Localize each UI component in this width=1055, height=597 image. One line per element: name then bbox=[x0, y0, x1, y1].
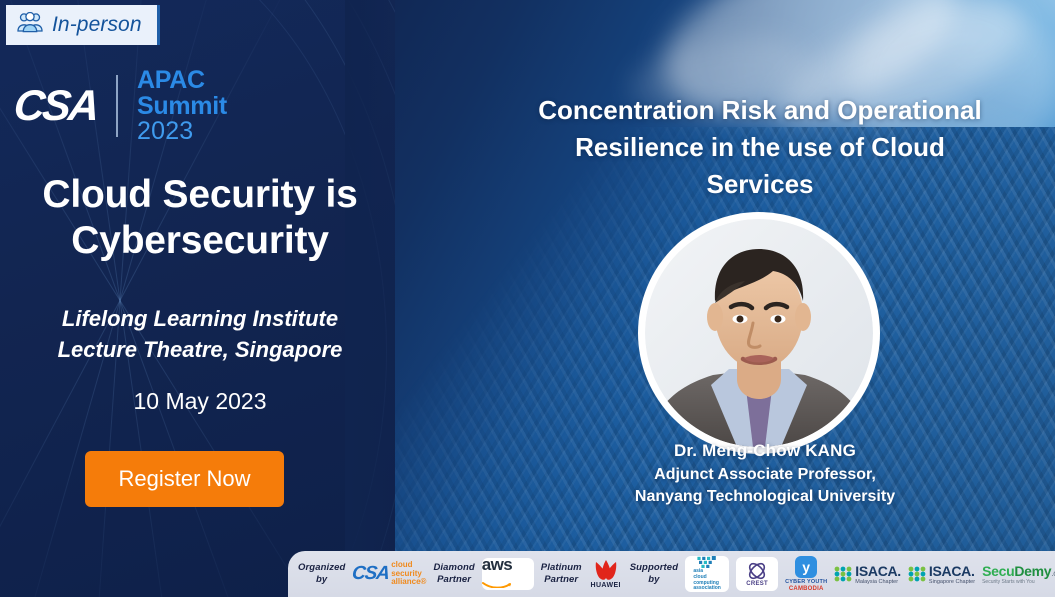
logo-text: APAC Summit 2023 bbox=[137, 68, 227, 145]
huawei-logo: HUAWEI bbox=[589, 559, 623, 589]
register-now-button[interactable]: Register Now bbox=[85, 451, 284, 507]
people-group-icon bbox=[17, 12, 43, 38]
isaca-malaysia-word: ISACA. bbox=[855, 564, 901, 578]
isaca-dots-icon bbox=[908, 566, 926, 582]
isaca-malaysia-sub: Malaysia Chapter bbox=[855, 579, 901, 585]
csa-sponsor-logo: CSA cloud security alliance® bbox=[352, 561, 426, 586]
isaca-singapore-logo: ISACA. Singapore Chapter bbox=[908, 564, 975, 585]
logo-divider bbox=[116, 75, 118, 137]
logo-year: 2023 bbox=[137, 119, 227, 145]
logo-summit: Summit bbox=[137, 94, 227, 120]
csa-logo-mark: CSA bbox=[12, 85, 100, 128]
talk-title: Concentration Risk and Operational Resil… bbox=[525, 92, 995, 203]
isaca-malaysia-text: ISACA. Malaysia Chapter bbox=[855, 564, 901, 585]
aws-logo-inner: aws bbox=[482, 556, 534, 593]
event-date: 10 May 2023 bbox=[0, 388, 400, 415]
venue-line-1: Lifelong Learning Institute bbox=[0, 303, 400, 334]
event-headline: Cloud Security is Cybersecurity bbox=[0, 172, 400, 263]
huawei-flower-icon bbox=[589, 559, 623, 581]
cyber-youth-line-2: CAMBODIA bbox=[789, 586, 824, 592]
secudemy-tagline: Security Starts with You bbox=[982, 579, 1035, 585]
speaker-role-line-2: Nanyang Technological University bbox=[570, 486, 960, 508]
speaker-role: Adjunct Associate Professor, Nanyang Tec… bbox=[570, 464, 960, 507]
in-person-badge: In-person bbox=[6, 5, 160, 45]
venue-line-2: Lecture Theatre, Singapore bbox=[0, 334, 400, 365]
sponsor-bar: Organized by CSA cloud security alliance… bbox=[288, 551, 1055, 597]
aws-smile-icon bbox=[482, 581, 512, 588]
isaca-singapore-sub: Singapore Chapter bbox=[929, 579, 975, 585]
csa-apac-summit-logo: CSA APAC Summit 2023 bbox=[14, 68, 227, 145]
aws-logo: aws bbox=[482, 558, 534, 590]
isaca-dots-icon bbox=[834, 566, 852, 582]
speaker-photo bbox=[645, 219, 873, 447]
speaker-name: Dr. Meng-Chow KANG bbox=[570, 441, 960, 461]
platinum-partner-label: Platinum Partner bbox=[541, 562, 582, 585]
acca-wordmark: asia cloud computing association bbox=[693, 569, 721, 592]
csa-sponsor-mark: CSA bbox=[351, 563, 390, 585]
in-person-badge-label: In-person bbox=[52, 13, 142, 37]
organized-by-label: Organized by bbox=[298, 562, 345, 585]
crest-atom-icon bbox=[745, 561, 769, 581]
logo-apac: APAC bbox=[137, 68, 227, 94]
diamond-partner-label: Diamond Partner bbox=[433, 562, 474, 585]
isaca-singapore-text: ISACA. Singapore Chapter bbox=[929, 564, 975, 585]
secudemy-wordmark: SecuDemy.com bbox=[982, 564, 1055, 578]
secudemy-part-2: Demy bbox=[1014, 563, 1051, 579]
cyber-youth-line-1: CYBER YOUTH bbox=[785, 579, 827, 585]
speaker-portrait bbox=[645, 219, 873, 447]
acca-line-4: association bbox=[693, 586, 721, 592]
isaca-malaysia-logo: ISACA. Malaysia Chapter bbox=[834, 564, 901, 585]
asia-cloud-computing-association-logo: asia cloud computing association bbox=[685, 556, 729, 592]
supported-by-label: Supported by bbox=[630, 562, 678, 585]
huawei-wordmark: HUAWEI bbox=[591, 582, 621, 589]
isaca-singapore-word: ISACA. bbox=[929, 564, 975, 578]
secudemy-part-3: .com bbox=[1051, 569, 1055, 578]
acca-pixel-icon bbox=[694, 556, 720, 568]
secudemy-part-1: Secu bbox=[982, 563, 1014, 579]
crest-wordmark: CREST bbox=[746, 581, 768, 587]
event-poster: In-person CSA APAC Summit 2023 Cloud Sec… bbox=[0, 0, 1055, 597]
cyber-youth-cambodia-logo: y CYBER YOUTH CAMBODIA bbox=[785, 556, 827, 592]
secudemy-logo: SecuDemy.com Security Starts with You bbox=[982, 564, 1055, 585]
csa-word-alliance: alliance® bbox=[391, 578, 426, 586]
cyber-youth-mark: y bbox=[795, 556, 817, 578]
event-venue: Lifelong Learning Institute Lecture Thea… bbox=[0, 303, 400, 365]
csa-sponsor-words: cloud security alliance® bbox=[391, 561, 426, 586]
aws-wordmark: aws bbox=[482, 555, 512, 574]
speaker-role-line-1: Adjunct Associate Professor, bbox=[570, 464, 960, 486]
crest-logo: CREST bbox=[736, 557, 778, 591]
